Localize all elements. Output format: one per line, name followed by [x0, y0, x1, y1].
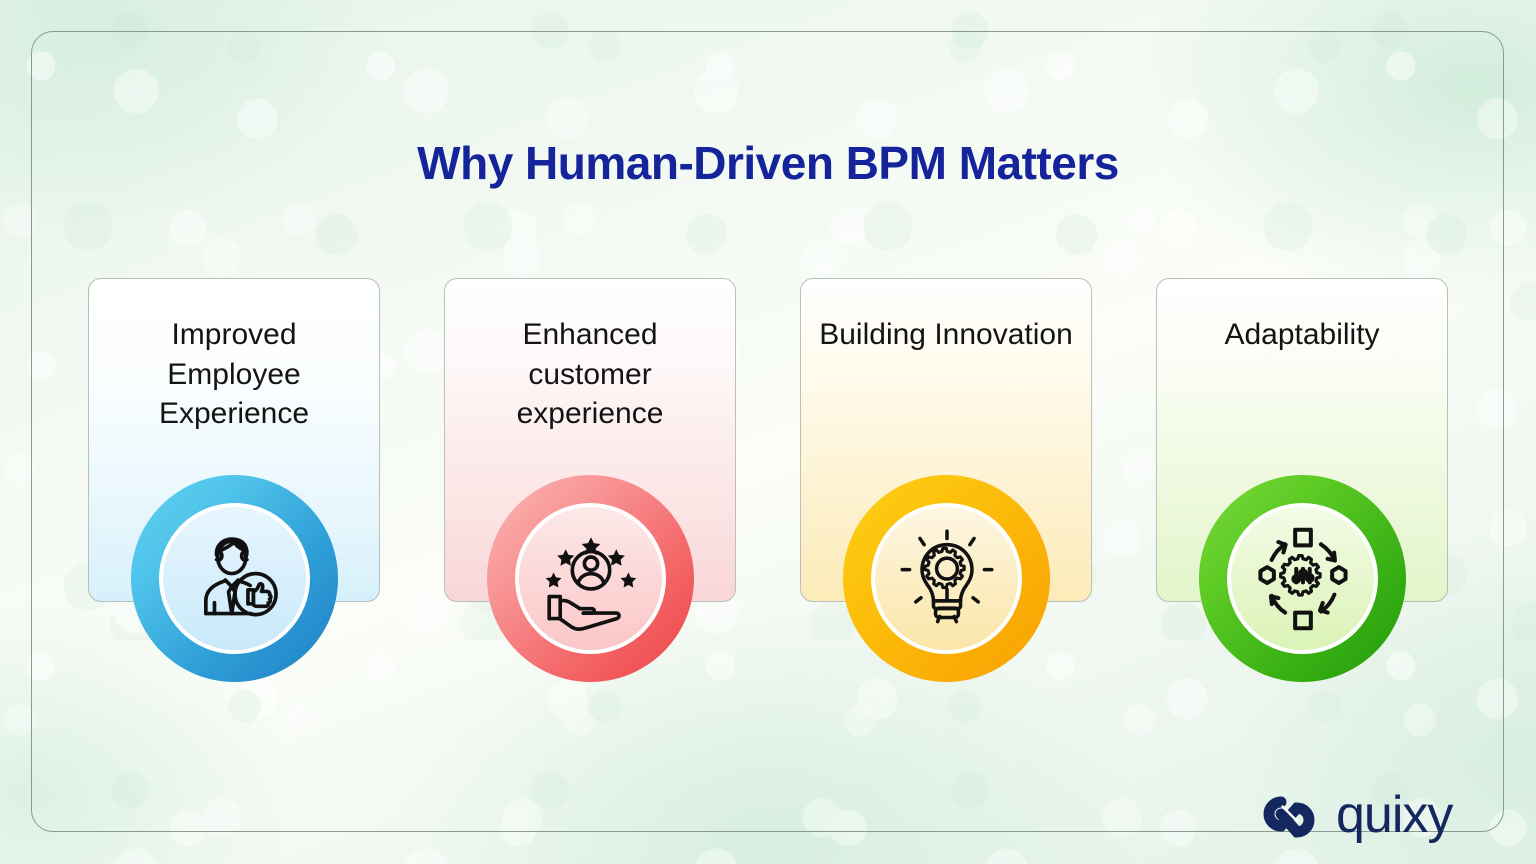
hand-customer-stars-icon	[536, 524, 646, 634]
page-title: Why Human-Driven BPM Matters	[0, 136, 1536, 190]
logo-text: quixy	[1336, 789, 1452, 841]
card-label: Enhanced customer experience	[457, 315, 723, 434]
card-label: Adaptability	[1169, 315, 1435, 355]
badge-adaptability	[1199, 475, 1406, 682]
badge-inner-circle	[515, 503, 666, 654]
gear-cycle-arrows-icon	[1247, 523, 1359, 635]
badge-improved-employee-experience	[131, 475, 338, 682]
badge-enhanced-customer-experience	[487, 475, 694, 682]
quixy-logo[interactable]: quixy	[1262, 789, 1452, 841]
badge-inner-circle	[1227, 503, 1378, 654]
infographic-canvas: Why Human-Driven BPM Matters Improved Em…	[0, 0, 1536, 864]
badge-inner-circle	[159, 503, 310, 654]
card-label: Building Innovation	[813, 315, 1079, 355]
badge-building-innovation	[843, 475, 1050, 682]
employee-thumbs-up-icon	[181, 525, 289, 633]
card-label: Improved Employee Experience	[101, 315, 367, 434]
badge-inner-circle	[871, 503, 1022, 654]
infinity-loop-icon	[1262, 792, 1324, 838]
lightbulb-gear-icon	[895, 527, 999, 631]
